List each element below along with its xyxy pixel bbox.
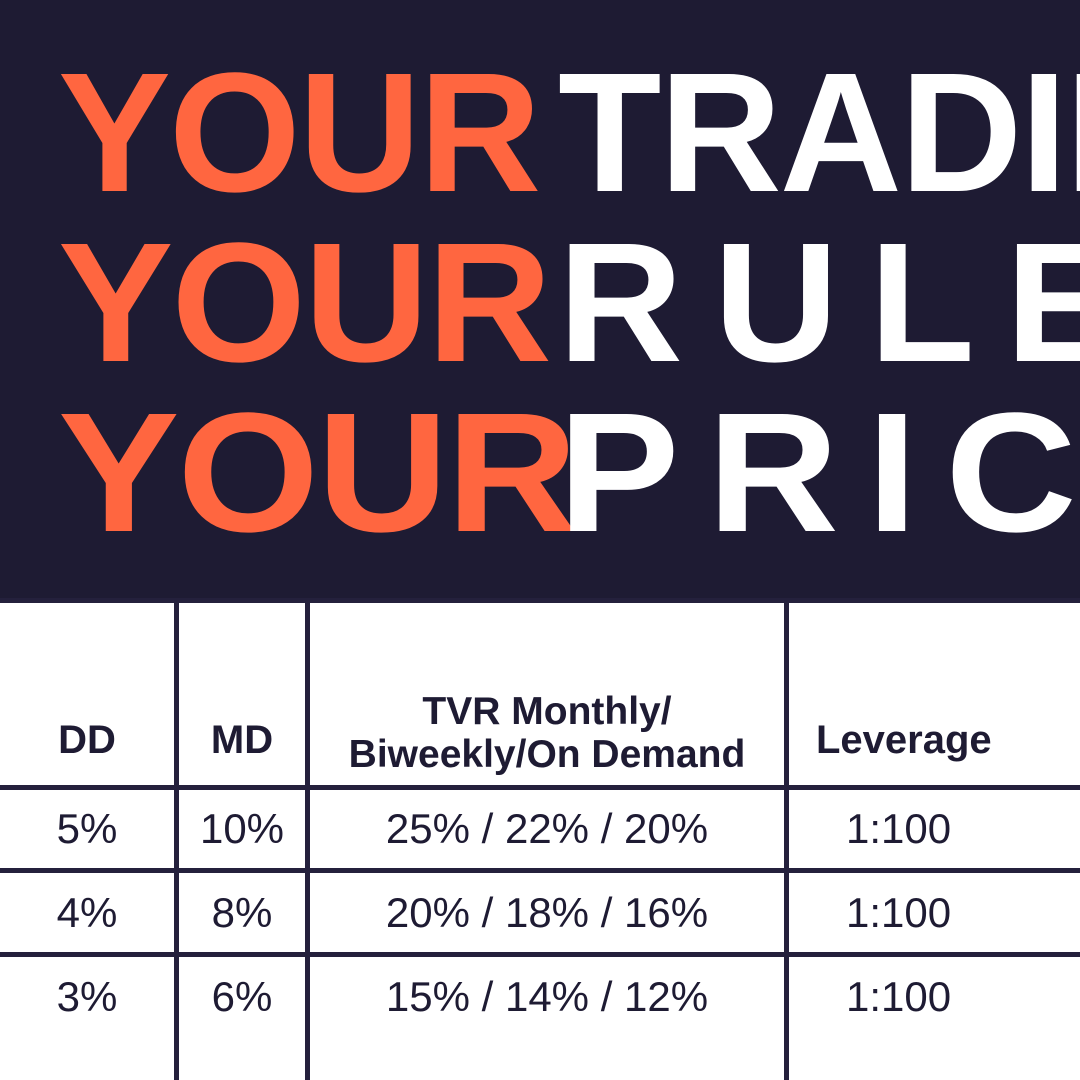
column-header-tvr-line1: TVR Monthly/	[422, 690, 671, 734]
headline-accent-your-2: YOUR	[58, 218, 550, 388]
cell-dd-3: 3%	[0, 957, 174, 1036]
headline-word-trading: TRADING	[558, 48, 1080, 218]
column-header-tvr-line2: Biweekly/On Demand	[349, 733, 746, 777]
cell-tvr-3: 15% / 14% / 12%	[310, 957, 784, 1036]
cell-md-3: 6%	[179, 957, 305, 1036]
headline-accent-your-1: YOUR	[58, 48, 539, 218]
cell-md-2: 8%	[179, 873, 305, 952]
headline-accent-your-3: YOUR	[58, 388, 576, 558]
cell-md-1: 10%	[179, 790, 305, 868]
pricing-table: DD MD TVR Monthly/ Biweekly/On Demand Le…	[0, 598, 1080, 1080]
column-header-dd: DD	[0, 698, 174, 783]
column-header-md: MD	[179, 698, 305, 783]
headline-line-2: YOURRULES	[58, 218, 1024, 388]
headline-word-price: PRICE	[558, 388, 1080, 558]
column-header-leverage: Leverage	[789, 698, 1080, 783]
column-header-tvr: TVR Monthly/ Biweekly/On Demand	[310, 638, 784, 783]
cell-leverage-2: 1:100	[789, 873, 1080, 952]
cell-leverage-1: 1:100	[789, 790, 1080, 868]
headline-line-3: YOURPRICE	[58, 388, 1024, 558]
promo-poster: YOURTRADING YOURRULES YOURPRICE DD MD TV…	[0, 0, 1080, 1080]
hero-banner: YOURTRADING YOURRULES YOURPRICE	[0, 0, 1080, 598]
headline-line-1: YOURTRADING	[58, 48, 1024, 218]
headline-word-rules: RULES	[558, 218, 1080, 388]
cell-leverage-3: 1:100	[789, 957, 1080, 1036]
cell-tvr-2: 20% / 18% / 16%	[310, 873, 784, 952]
table-rule-top	[0, 598, 1080, 603]
cell-tvr-1: 25% / 22% / 20%	[310, 790, 784, 868]
cell-dd-2: 4%	[0, 873, 174, 952]
cell-dd-1: 5%	[0, 790, 174, 868]
